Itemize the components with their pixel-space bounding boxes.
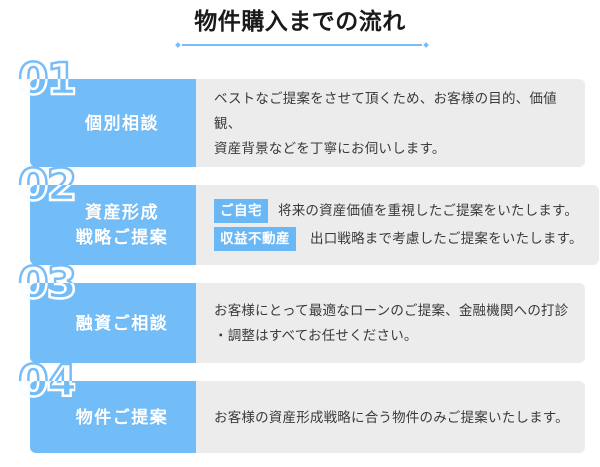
step-label-02: 資産形成 戦略ご提案 [76, 200, 169, 250]
step-number-04-overlay: 04 [18, 360, 75, 404]
step-row-04: 04 04 物件ご提案 お客様の資産形成戦略に合う物件のみご提案いたします。 [30, 381, 585, 453]
page-title: 物件購入までの流れ [0, 0, 600, 35]
badge-line-investment: 収益不動産 出口戦略まで考慮したご提案をいたします。 [214, 225, 583, 253]
badge-tag-investment: 収益不動産 [214, 227, 296, 251]
step-number-03: 03 03 [18, 262, 75, 306]
badge-description-investment: 出口戦略まで考慮したご提案をいたします。 [310, 228, 583, 250]
title-underline-decoration [176, 43, 428, 46]
step-label-box-04: 04 04 物件ご提案 [30, 381, 196, 453]
step-label-04: 物件ご提案 [76, 405, 169, 430]
flow-diagram-page: 物件購入までの流れ 01 01 個別相談 ベストなご提案をさせて頂くため、お客様… [0, 0, 600, 467]
underline-line [182, 44, 422, 46]
step-row-02: 02 02 資産形成 戦略ご提案 ご自宅 将来の資産価値を重視したご提案をいたし… [30, 185, 585, 265]
step-number-03-base: 03 [18, 258, 75, 309]
step-number-02: 02 02 [18, 164, 75, 208]
step-number-01-overlay: 01 [18, 58, 75, 102]
step-description-04: お客様の資産形成戦略に合う物件のみご提案いたします。 [214, 405, 569, 430]
step-content-box-01: ベストなご提案をさせて頂くため、お客様の目的、価値観、 資産背景などを丁寧にお伺… [196, 79, 585, 167]
badge-tag-home: ご自宅 [214, 199, 268, 223]
step-number-04: 04 04 [18, 360, 75, 404]
step-description-01: ベストなご提案をさせて頂くため、お客様の目的、価値観、 資産背景などを丁寧にお伺… [214, 86, 569, 161]
step-description-03: お客様にとって最適なローンのご提案、金融機関への打診 ・調整はすべてお任せくださ… [214, 298, 569, 348]
step-number-02-overlay: 02 [18, 164, 75, 208]
step-label-03: 融資ご相談 [76, 311, 169, 336]
underline-dot-right-icon [423, 42, 429, 48]
step-row-03: 03 03 融資ご相談 お客様にとって最適なローンのご提案、金融機関への打診 ・… [30, 283, 585, 363]
step-content-box-02: ご自宅 将来の資産価値を重視したご提案をいたします。 収益不動産 出口戦略まで考… [196, 185, 599, 265]
page-title-block: 物件購入までの流れ [0, 0, 600, 56]
step-row-01: 01 01 個別相談 ベストなご提案をさせて頂くため、お客様の目的、価値観、 資… [30, 79, 585, 167]
badge-description-home: 将来の資産価値を重視したご提案をいたします。 [278, 200, 578, 222]
badge-line-home: ご自宅 将来の資産価値を重視したご提案をいたします。 [214, 197, 583, 225]
step-number-03-overlay: 03 [18, 262, 75, 306]
step-label-box-03: 03 03 融資ご相談 [30, 283, 196, 363]
step-content-box-04: お客様の資産形成戦略に合う物件のみご提案いたします。 [196, 381, 585, 453]
step-number-04-base: 04 [18, 356, 75, 407]
step-number-01-base: 01 [18, 54, 75, 105]
underline-dot-left-icon [175, 42, 181, 48]
step-label-01: 個別相談 [85, 111, 159, 136]
step-number-01: 01 01 [18, 58, 75, 102]
step-content-box-03: お客様にとって最適なローンのご提案、金融機関への打診 ・調整はすべてお任せくださ… [196, 283, 585, 363]
step-number-02-base: 02 [18, 160, 75, 211]
step-label-box-01: 01 01 個別相談 [30, 79, 196, 167]
step-label-box-02: 02 02 資産形成 戦略ご提案 [30, 185, 196, 265]
